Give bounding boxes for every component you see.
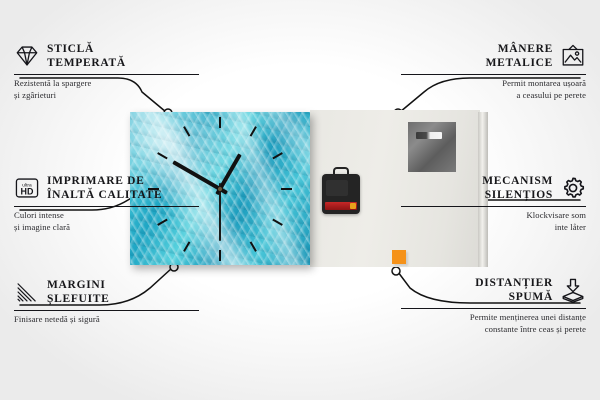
callout-subtitle: Klockvisare som inte låter (401, 210, 586, 233)
callout-margini-slefuite: MARGINI ȘLEFUITE Finisare netedă și sigu… (14, 278, 199, 326)
callout-mecanism-silentios: MECANISM SILENȚIOS Klockvisare som inte … (401, 174, 586, 233)
callout-divider (401, 308, 586, 309)
ultra-hd-icon: ultra HD (14, 175, 40, 201)
callout-header: ultra HD IMPRIMARE DE ÎNALTĂ CALITATE (14, 174, 199, 202)
callout-subtitle: Rezistentă la spargere și zgârieturi (14, 78, 199, 101)
polished-edges-icon (14, 279, 40, 305)
callout-title: MARGINI ȘLEFUITE (47, 278, 109, 306)
clock-tick (281, 188, 292, 190)
callout-title: IMPRIMARE DE ÎNALTĂ CALITATE (47, 174, 162, 202)
mechanism-battery (325, 202, 357, 210)
callout-title: STICLĂ TEMPERATĂ (47, 42, 126, 70)
callout-title: DISTANȚIER SPUMĂ (475, 276, 553, 304)
svg-text:HD: HD (21, 187, 34, 197)
callout-divider (401, 206, 586, 207)
callout-manere-metalice: MÂNERE METALICE Permit montarea ușoară a… (401, 42, 586, 101)
mechanism-body (326, 180, 348, 196)
mechanism-hanger-loop (333, 167, 349, 177)
callout-header: DISTANȚIER SPUMĂ (401, 276, 586, 304)
callout-subtitle: Finisare netedă și sigură (14, 314, 199, 325)
callout-title: MECANISM SILENȚIOS (482, 174, 553, 202)
foam-spacer-part (392, 250, 406, 264)
callout-distantier-spuma: DISTANȚIER SPUMĂ Permite menținerea unei… (401, 276, 586, 335)
callout-divider (401, 74, 586, 75)
infographic-stage: STICLĂ TEMPERATĂ Rezistentă la spargere … (0, 0, 600, 400)
diamond-icon (14, 43, 40, 69)
callout-imprimare-inalta-calitate: ultra HD IMPRIMARE DE ÎNALTĂ CALITATE Cu… (14, 174, 199, 233)
callout-title: MÂNERE METALICE (486, 42, 553, 70)
callout-subtitle: Culori intense și imagine clară (14, 210, 199, 233)
hanger-slot (416, 132, 442, 139)
callout-divider (14, 206, 199, 207)
callout-header: MÂNERE METALICE (401, 42, 586, 70)
callout-subtitle: Permit montarea ușoară a ceasului pe per… (401, 78, 586, 101)
clock-second-hand (219, 189, 220, 241)
callout-header: MECANISM SILENȚIOS (401, 174, 586, 202)
clock-mechanism-part (322, 174, 360, 214)
callout-header: STICLĂ TEMPERATĂ (14, 42, 199, 70)
foam-spacer-arrow-icon (560, 277, 586, 303)
callout-header: MARGINI ȘLEFUITE (14, 278, 199, 306)
callout-sticla-temperata: STICLĂ TEMPERATĂ Rezistentă la spargere … (14, 42, 199, 101)
picture-frame-hook-icon (560, 43, 586, 69)
clock-tick (219, 117, 221, 128)
metal-hanger-part (408, 122, 456, 172)
callout-subtitle: Permite menținerea unei distanțe constan… (401, 312, 586, 335)
callout-divider (14, 74, 199, 75)
gear-icon (560, 175, 586, 201)
callout-divider (14, 310, 199, 311)
clock-tick (219, 250, 221, 261)
clock-center-pin (218, 187, 222, 191)
